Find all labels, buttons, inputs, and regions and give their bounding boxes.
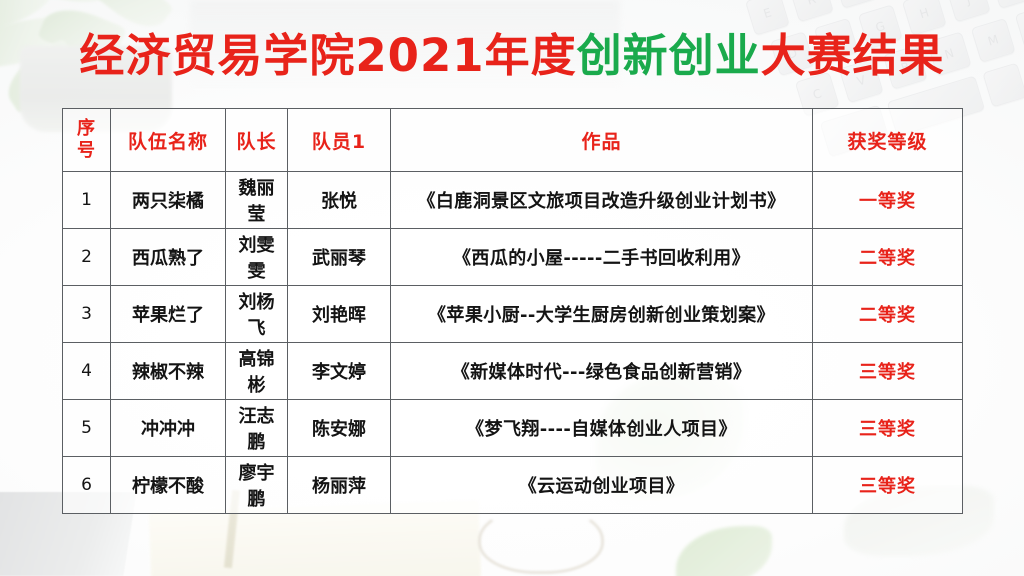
cell-team: 柠檬不酸 (111, 457, 226, 514)
cell-no: 2 (63, 229, 111, 286)
column-header-award: 获奖等级 (813, 109, 963, 172)
column-header-no-line1: 序 (77, 118, 96, 139)
cell-award: 一等奖 (813, 172, 963, 229)
slide-canvas: E R T Y D F G H J K C V B N M 经济贸易学院2021… (0, 0, 1024, 576)
cell-award: 三等奖 (813, 457, 963, 514)
cell-work: 《云运动创业项目》 (391, 457, 813, 514)
cell-cap: 高锦彬 (226, 343, 288, 400)
cell-team: 两只柒橘 (111, 172, 226, 229)
table-body: 1 两只柒橘 魏丽莹 张悦 《白鹿洞景区文旅项目改造升级创业计划书》 一等奖 2… (63, 172, 963, 514)
cell-mem: 武丽琴 (288, 229, 391, 286)
cell-award: 三等奖 (813, 343, 963, 400)
cell-cap: 刘杨飞 (226, 286, 288, 343)
table-row: 5 冲冲冲 汪志鹏 陈安娜 《梦飞翔----自媒体创业人项目》 三等奖 (63, 400, 963, 457)
glasses-image (478, 506, 604, 574)
cell-team: 苹果烂了 (111, 286, 226, 343)
cell-no: 6 (63, 457, 111, 514)
table-header-row: 序号 队伍名称 队长 队员1 作品 获奖等级 (63, 109, 963, 172)
cell-work: 《西瓜的小屋-----二手书回收利用》 (391, 229, 813, 286)
page-title: 经济贸易学院2021年度创新创业大赛结果 (0, 27, 1024, 85)
cell-work: 《白鹿洞景区文旅项目改造升级创业计划书》 (391, 172, 813, 229)
cell-cap: 刘雯雯 (226, 229, 288, 286)
table-header: 序号 队伍名称 队长 队员1 作品 获奖等级 (63, 109, 963, 172)
table-row: 3 苹果烂了 刘杨飞 刘艳晖 《苹果小厨--大学生厨房创新创业策划案》 二等奖 (63, 286, 963, 343)
title-segment-3: 大赛结果 (761, 29, 945, 82)
table-row: 2 西瓜熟了 刘雯雯 武丽琴 《西瓜的小屋-----二手书回收利用》 二等奖 (63, 229, 963, 286)
table-row: 6 柠檬不酸 廖宇鹏 杨丽萍 《云运动创业项目》 三等奖 (63, 457, 963, 514)
cell-award: 二等奖 (813, 286, 963, 343)
cell-cap: 魏丽莹 (226, 172, 288, 229)
cell-cap: 汪志鹏 (226, 400, 288, 457)
cell-work: 《新媒体时代---绿色食品创新营销》 (391, 343, 813, 400)
title-segment-2: 创新创业 (577, 29, 761, 82)
column-header-no: 序号 (63, 109, 111, 172)
column-header-cap: 队长 (226, 109, 288, 172)
column-header-mem: 队员1 (288, 109, 391, 172)
cell-work: 《梦飞翔----自媒体创业人项目》 (391, 400, 813, 457)
cell-work: 《苹果小厨--大学生厨房创新创业策划案》 (391, 286, 813, 343)
table-row: 4 辣椒不辣 高锦彬 李文婷 《新媒体时代---绿色食品创新营销》 三等奖 (63, 343, 963, 400)
table-row: 1 两只柒橘 魏丽莹 张悦 《白鹿洞景区文旅项目改造升级创业计划书》 一等奖 (63, 172, 963, 229)
cell-cap: 廖宇鹏 (226, 457, 288, 514)
cell-award: 三等奖 (813, 400, 963, 457)
column-header-work: 作品 (391, 109, 813, 172)
cell-mem: 刘艳晖 (288, 286, 391, 343)
cell-mem: 陈安娜 (288, 400, 391, 457)
cell-team: 西瓜熟了 (111, 229, 226, 286)
column-header-no-line2: 号 (77, 140, 96, 161)
cell-mem: 张悦 (288, 172, 391, 229)
cell-mem: 李文婷 (288, 343, 391, 400)
column-header-team: 队伍名称 (111, 109, 226, 172)
cell-no: 4 (63, 343, 111, 400)
cell-mem: 杨丽萍 (288, 457, 391, 514)
cell-team: 辣椒不辣 (111, 343, 226, 400)
cell-team: 冲冲冲 (111, 400, 226, 457)
results-table: 序号 队伍名称 队长 队员1 作品 获奖等级 1 两只柒橘 魏丽莹 张悦 《白鹿… (62, 108, 963, 514)
cell-no: 1 (63, 172, 111, 229)
cell-no: 3 (63, 286, 111, 343)
title-segment-1: 经济贸易学院2021年度 (79, 29, 576, 82)
cell-no: 5 (63, 400, 111, 457)
cell-award: 二等奖 (813, 229, 963, 286)
